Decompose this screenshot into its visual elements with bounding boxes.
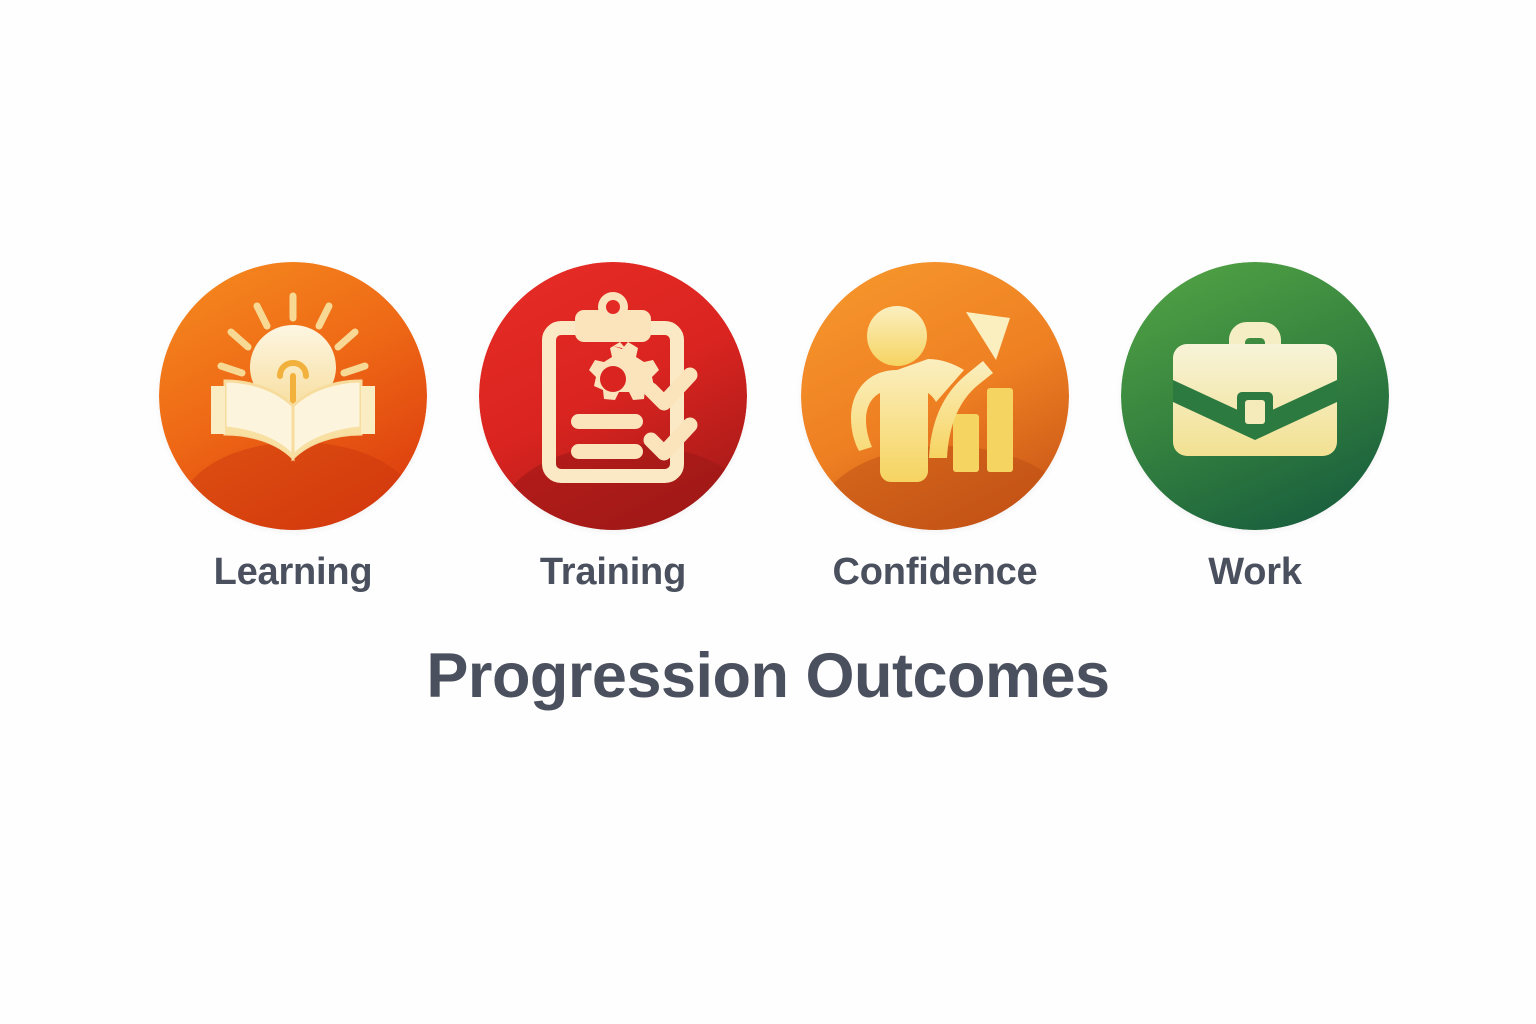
progression-steps-row: Learning bbox=[120, 262, 1420, 612]
progression-outcomes-infographic: Learning bbox=[0, 0, 1536, 1024]
step-label-work: Work bbox=[1208, 552, 1302, 594]
confidence-icon-circle[interactable] bbox=[801, 262, 1069, 530]
step-label-confidence: Confidence bbox=[833, 552, 1038, 594]
work-icon-circle[interactable] bbox=[1121, 262, 1389, 530]
step-label-training: Training bbox=[540, 552, 686, 594]
progression-step-confidence[interactable]: Confidence bbox=[775, 262, 1095, 594]
training-icon-circle[interactable] bbox=[479, 262, 747, 530]
learning-icon-circle[interactable] bbox=[159, 262, 427, 530]
progression-step-work[interactable]: Work bbox=[1095, 262, 1415, 594]
briefcase-body bbox=[1173, 344, 1337, 456]
step-label-learning: Learning bbox=[214, 552, 373, 594]
progression-step-learning[interactable]: Learning bbox=[133, 262, 453, 594]
page-title: Progression Outcomes bbox=[0, 643, 1536, 709]
progression-step-training[interactable]: Training bbox=[453, 262, 773, 594]
